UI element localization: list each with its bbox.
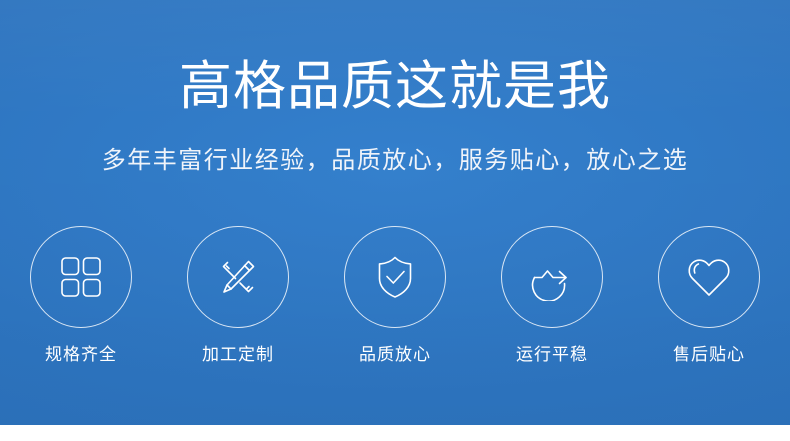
feature-item-after-sales[interactable]: 售后贴心 bbox=[657, 226, 761, 366]
feature-item-specifications[interactable]: 规格齐全 bbox=[29, 226, 133, 366]
feature-icon-circle bbox=[501, 226, 603, 328]
feature-item-stability[interactable]: 运行平稳 bbox=[500, 226, 604, 366]
feature-label: 加工定制 bbox=[202, 344, 274, 366]
feature-icon-circle bbox=[30, 226, 132, 328]
banner-title: 高格品质这就是我 bbox=[0, 57, 790, 117]
feature-icon-circle bbox=[658, 226, 760, 328]
feature-item-quality[interactable]: 品质放心 bbox=[343, 226, 447, 366]
heart-icon bbox=[685, 254, 733, 300]
feature-list: 规格齐全 bbox=[0, 226, 790, 366]
banner-content: 高格品质这就是我 多年丰富行业经验，品质放心，服务贴心，放心之选 规格齐全 bbox=[0, 0, 790, 425]
feature-icon-circle bbox=[344, 226, 446, 328]
feature-label: 规格齐全 bbox=[45, 344, 117, 366]
shield-check-icon bbox=[372, 254, 418, 300]
feature-label: 品质放心 bbox=[359, 344, 431, 366]
feature-icon-circle bbox=[187, 226, 289, 328]
feature-label: 售后贴心 bbox=[673, 344, 745, 366]
bottom-white-strip bbox=[0, 425, 790, 441]
promo-banner: 高格品质这就是我 多年丰富行业经验，品质放心，服务贴心，放心之选 规格齐全 bbox=[0, 0, 790, 425]
feature-item-customization[interactable]: 加工定制 bbox=[186, 226, 290, 366]
feature-label: 运行平稳 bbox=[516, 344, 588, 366]
pencil-ruler-icon bbox=[214, 253, 262, 301]
grid-four-squares-icon bbox=[58, 254, 104, 300]
circular-arrow-icon bbox=[528, 253, 576, 301]
banner-subtitle: 多年丰富行业经验，品质放心，服务贴心，放心之选 bbox=[0, 145, 790, 177]
